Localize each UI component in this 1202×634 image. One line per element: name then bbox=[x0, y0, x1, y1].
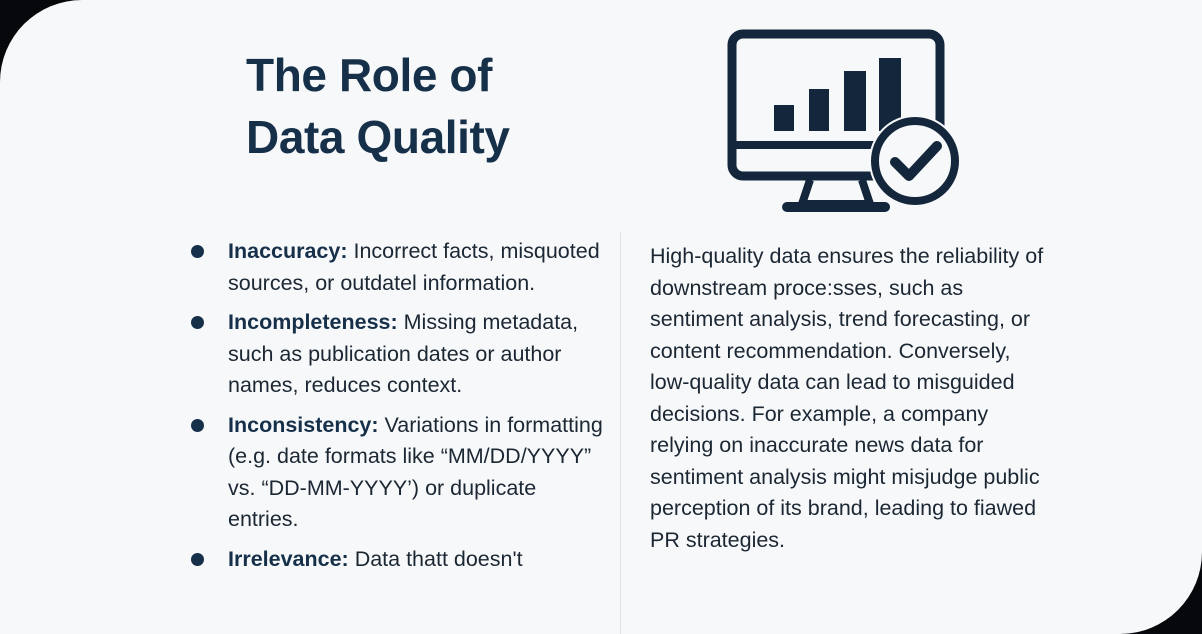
monitor-bar-chart-check-icon bbox=[706, 22, 992, 222]
chart-bar-3 bbox=[844, 71, 866, 131]
list-item-term: Incompleteness: bbox=[228, 310, 398, 334]
list-item: Inconsistency: Variations in formatting … bbox=[189, 410, 609, 536]
list-item: Inaccuracy: Incorrect facts, misquoted s… bbox=[189, 236, 609, 299]
page-title-line-1: The Role of bbox=[246, 44, 646, 106]
check-badge-backdrop bbox=[869, 115, 961, 207]
column-divider bbox=[620, 232, 621, 634]
bullet-dot-icon bbox=[191, 245, 204, 258]
content-card: The Role of Data Quality bbox=[0, 0, 1202, 634]
chart-bar-1 bbox=[774, 105, 794, 131]
bullet-dot-icon bbox=[191, 419, 204, 432]
page-title: The Role of Data Quality bbox=[246, 44, 646, 168]
bullet-dot-icon bbox=[191, 316, 204, 329]
list-item: Irrelevance: Data thatt doesn't bbox=[189, 544, 609, 576]
monitor-stand bbox=[802, 180, 870, 204]
monitor-base bbox=[782, 202, 890, 212]
chart-bar-2 bbox=[809, 89, 829, 131]
list-item-text: Data thatt doesn't bbox=[349, 547, 523, 571]
page-title-line-2: Data Quality bbox=[246, 106, 646, 168]
list-item-term: Irrelevance: bbox=[228, 547, 349, 571]
bullet-dot-icon bbox=[191, 553, 204, 566]
list-item-term: Inconsistency: bbox=[228, 413, 379, 437]
list-item: Incompleteness: Missing metadata, such a… bbox=[189, 307, 609, 402]
list-item-term: Inaccuracy: bbox=[228, 239, 348, 263]
issues-bullet-list: Inaccuracy: Incorrect facts, misquoted s… bbox=[189, 236, 609, 583]
slide-frame: The Role of Data Quality bbox=[0, 0, 1202, 634]
body-paragraph: High-quality data ensures the reliabilit… bbox=[650, 241, 1054, 556]
